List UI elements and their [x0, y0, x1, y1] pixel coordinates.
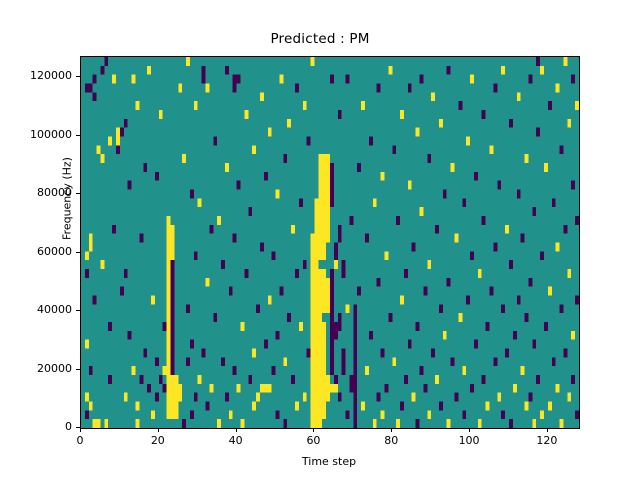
y-tick-label: 40000 — [6, 303, 72, 316]
x-tick-mark — [469, 428, 470, 432]
x-tick-mark — [236, 428, 237, 432]
y-tick-mark — [76, 76, 80, 77]
y-tick-label: 60000 — [6, 245, 72, 258]
y-tick-mark — [76, 369, 80, 370]
x-tick-mark — [158, 428, 159, 432]
x-tick-mark — [80, 428, 81, 432]
x-tick-label: 100 — [449, 434, 489, 447]
y-tick-label: 80000 — [6, 186, 72, 199]
y-tick-mark — [76, 252, 80, 253]
x-tick-mark — [547, 428, 548, 432]
matplotlib-figure: Predicted : PM Frequency (Hz) Time step … — [0, 0, 640, 480]
x-tick-mark — [313, 428, 314, 432]
x-axis-label: Time step — [80, 455, 578, 468]
x-tick-label: 20 — [138, 434, 178, 447]
x-tick-label: 40 — [216, 434, 256, 447]
page-title: Predicted : PM — [0, 31, 640, 47]
x-tick-label: 120 — [527, 434, 567, 447]
x-tick-label: 0 — [60, 434, 100, 447]
x-tick-label: 60 — [293, 434, 333, 447]
x-tick-mark — [391, 428, 392, 432]
y-tick-mark — [76, 135, 80, 136]
y-tick-label: 0 — [6, 420, 72, 433]
y-tick-label: 100000 — [6, 128, 72, 141]
x-tick-label: 80 — [371, 434, 411, 447]
y-tick-label: 120000 — [6, 69, 72, 82]
y-tick-mark — [76, 193, 80, 194]
y-tick-label: 20000 — [6, 362, 72, 375]
heatmap-image — [81, 57, 579, 428]
y-tick-mark — [76, 310, 80, 311]
heatmap-plot-area[interactable] — [80, 56, 580, 429]
